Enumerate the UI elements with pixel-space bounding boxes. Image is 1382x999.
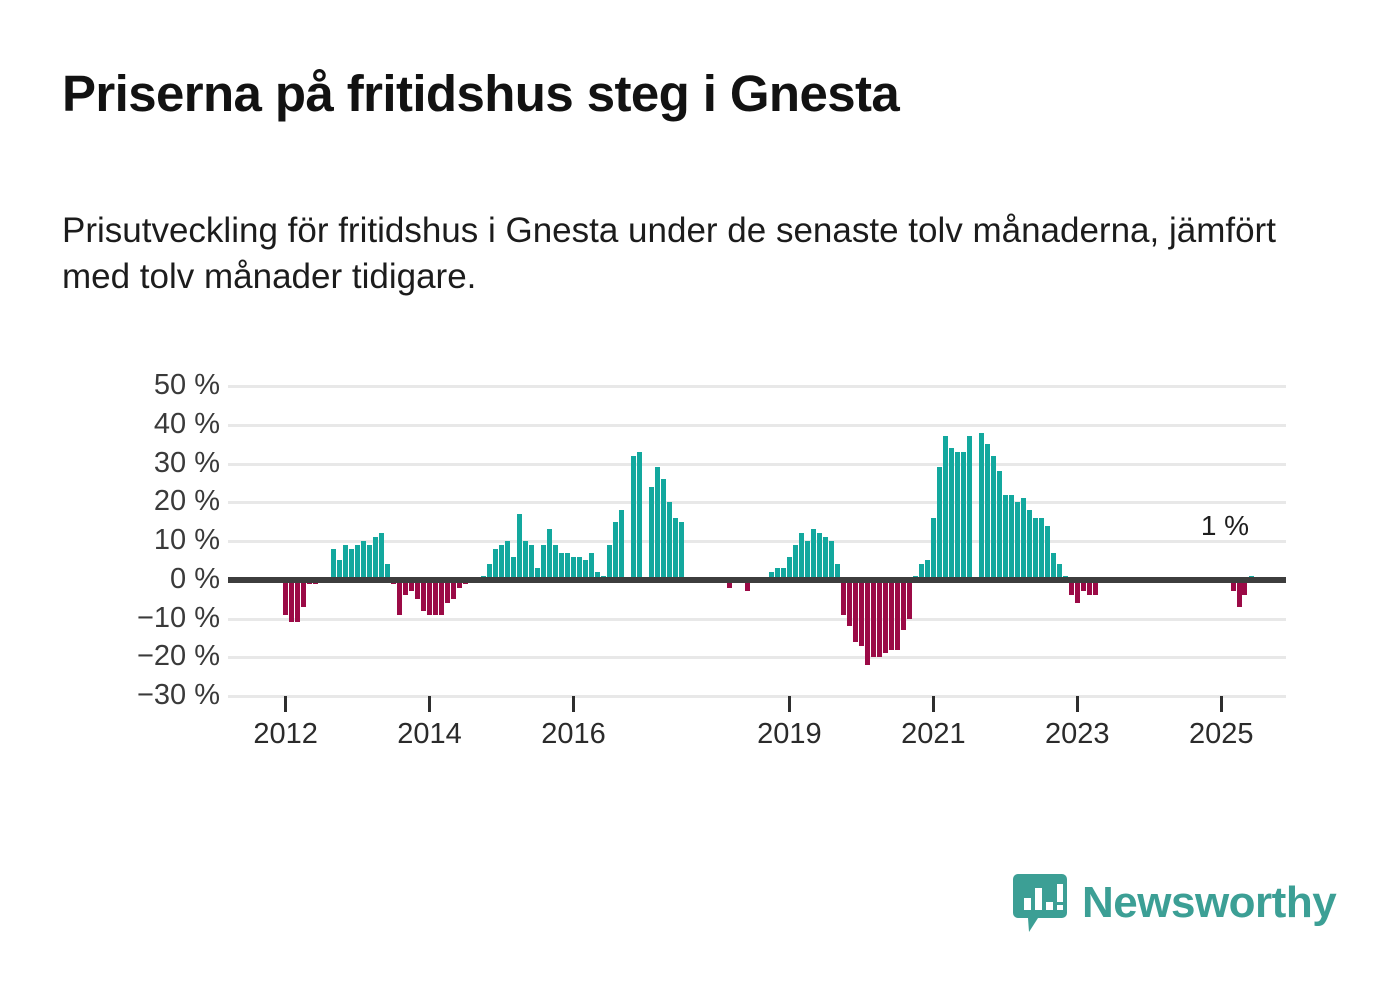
bar [649, 487, 654, 580]
bar [367, 545, 372, 580]
bar [961, 452, 966, 580]
bar [991, 456, 996, 580]
bar [943, 436, 948, 579]
bar [853, 580, 858, 642]
zero-line [228, 577, 1286, 583]
bar [811, 529, 816, 579]
x-axis-tick [1220, 696, 1223, 712]
x-axis-tick [932, 696, 935, 712]
bar [967, 436, 972, 579]
bar [565, 553, 570, 580]
plot-area [228, 386, 1286, 696]
newsworthy-logo: Newsworthy [1012, 872, 1336, 934]
bar [883, 580, 888, 654]
x-axis-tick-label: 2021 [901, 718, 966, 751]
x-axis: 2012201420162019202120232025 [228, 696, 1286, 766]
bar [655, 467, 660, 579]
bar [301, 580, 306, 607]
x-axis-tick-label: 2025 [1189, 718, 1254, 751]
bar [505, 541, 510, 580]
bar [343, 545, 348, 580]
bar [1027, 510, 1032, 580]
x-axis-tick [572, 696, 575, 712]
bar [799, 533, 804, 580]
bar [295, 580, 300, 623]
bar [829, 541, 834, 580]
bar [817, 533, 822, 580]
bar [865, 580, 870, 665]
y-axis-tick-label: 40 % [92, 410, 220, 439]
bar [841, 580, 846, 615]
bar [331, 549, 336, 580]
bar [661, 479, 666, 580]
bar [931, 518, 936, 580]
bar [499, 545, 504, 580]
last-value-annotation: 1 % [1201, 510, 1249, 542]
bar [1039, 518, 1044, 580]
bar [901, 580, 906, 630]
bar [1075, 580, 1080, 603]
bar [823, 537, 828, 580]
gridline [228, 463, 1286, 466]
newsworthy-wordmark: Newsworthy [1082, 881, 1336, 925]
bar [559, 553, 564, 580]
bar [1009, 495, 1014, 580]
bar [1015, 502, 1020, 580]
gridline [228, 540, 1286, 543]
bar [373, 537, 378, 580]
bar [1045, 526, 1050, 580]
bar [895, 580, 900, 650]
y-axis-tick-label: 30 % [92, 449, 220, 478]
bar [379, 533, 384, 580]
gridline [228, 656, 1286, 659]
bar [859, 580, 864, 646]
chart-page: Priserna på fritidshus steg i Gnesta Pri… [0, 0, 1382, 999]
bar [619, 510, 624, 580]
bar [871, 580, 876, 658]
gridline [228, 501, 1286, 504]
bar [349, 549, 354, 580]
x-axis-tick-label: 2016 [541, 718, 606, 751]
bar [289, 580, 294, 623]
bar [877, 580, 882, 658]
x-axis-tick [428, 696, 431, 712]
bar [547, 529, 552, 579]
bar [997, 471, 1002, 580]
bar [949, 448, 954, 580]
bar [1051, 553, 1056, 580]
x-axis-tick-label: 2012 [253, 718, 318, 751]
y-axis-tick-label: −30 % [92, 681, 220, 710]
bar [1021, 498, 1026, 579]
y-axis-tick-label: −20 % [92, 642, 220, 671]
bar [847, 580, 852, 627]
bar-chart: 50 %40 %30 %20 %10 %0 %−10 %−20 %−30 % 2… [0, 360, 1382, 760]
bar [985, 444, 990, 580]
bar [541, 545, 546, 580]
bar [679, 522, 684, 580]
bar [421, 580, 426, 611]
x-axis-tick [1076, 696, 1079, 712]
bar [889, 580, 894, 650]
bar [361, 541, 366, 580]
x-axis-tick-label: 2019 [757, 718, 822, 751]
bar [667, 502, 672, 580]
bar [613, 522, 618, 580]
bar [517, 514, 522, 580]
y-axis-tick-label: −10 % [92, 604, 220, 633]
gridline [228, 424, 1286, 427]
bar [433, 580, 438, 615]
x-axis-tick-label: 2023 [1045, 718, 1110, 751]
bar [529, 545, 534, 580]
y-axis-tick-label: 50 % [92, 371, 220, 400]
y-axis-tick-label: 0 % [92, 565, 220, 594]
bar [523, 541, 528, 580]
y-axis-tick-label: 20 % [92, 487, 220, 516]
y-axis-labels: 50 %40 %30 %20 %10 %0 %−10 %−20 %−30 % [92, 360, 220, 700]
bar [673, 518, 678, 580]
bar [955, 452, 960, 580]
newsworthy-bar-chart-bubble-icon [1012, 872, 1068, 934]
bar [1033, 518, 1038, 580]
bar [979, 433, 984, 580]
bar [637, 452, 642, 580]
bar [283, 580, 288, 615]
bar [1003, 495, 1008, 580]
gridline [228, 385, 1286, 388]
gridline [228, 618, 1286, 621]
page-title: Priserna på fritidshus steg i Gnesta [62, 66, 1342, 122]
x-axis-tick-label: 2014 [397, 718, 462, 751]
bar [445, 580, 450, 603]
bar [607, 545, 612, 580]
x-axis-tick [788, 696, 791, 712]
x-axis-tick [284, 696, 287, 712]
bar [439, 580, 444, 615]
bar [553, 545, 558, 580]
bar [793, 545, 798, 580]
y-axis-tick-label: 10 % [92, 526, 220, 555]
bar [355, 545, 360, 580]
bar [631, 456, 636, 580]
bar [397, 580, 402, 615]
bar [805, 541, 810, 580]
bar [493, 549, 498, 580]
bar [1237, 580, 1242, 607]
page-subtitle: Prisutveckling för fritidshus i Gnesta u… [62, 208, 1332, 300]
bar [589, 553, 594, 580]
bar [937, 467, 942, 579]
bar [427, 580, 432, 615]
bar [907, 580, 912, 619]
